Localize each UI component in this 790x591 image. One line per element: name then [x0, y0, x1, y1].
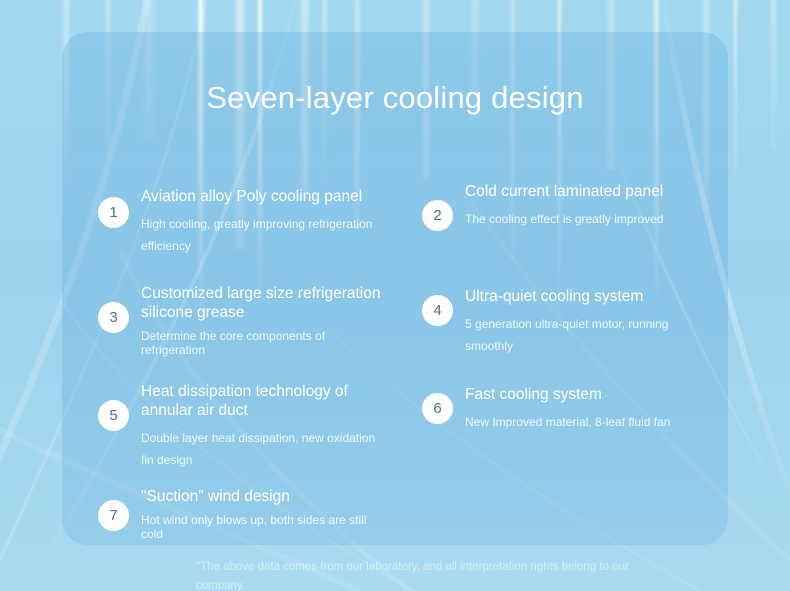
feature-description-3: Determine the core components of refrige…: [141, 329, 388, 357]
feature-description-7: Hot wind only blows up, both sides are s…: [141, 513, 388, 541]
feature-number-badge-1: 1: [98, 197, 129, 228]
feature-item-1: 1 Aviation alloy Poly cooling panel High…: [98, 187, 388, 257]
feature-number-badge-7: 7: [98, 500, 129, 531]
feature-item-6: 6 Fast cooling system New Improved mater…: [422, 385, 712, 433]
feature-title-2: Cold current laminated panel: [465, 182, 712, 201]
feature-description-5: Double layer heat dissipation, new oxida…: [141, 427, 388, 471]
feature-title-7: "Suction" wind design: [141, 487, 388, 506]
feature-title-5: Heat dissipation technology of annular a…: [141, 382, 388, 420]
promo-banner: Seven-layer cooling design 1 Aviation al…: [0, 0, 790, 591]
feature-panel: Seven-layer cooling design 1 Aviation al…: [62, 32, 728, 545]
feature-number-badge-4: 4: [422, 295, 453, 326]
disclaimer-footnote: "The above data comes from our laborator…: [196, 558, 666, 591]
feature-item-4: 4 Ultra-quiet cooling system 5 generatio…: [422, 287, 712, 357]
feature-title-3: Customized large size refrigeration sili…: [141, 284, 388, 322]
feature-item-7: 7 "Suction" wind design Hot wind only bl…: [98, 487, 388, 541]
feature-item-2: 2 Cold current laminated panel The cooli…: [422, 182, 712, 230]
feature-description-2: The cooling effect is greatly improved: [465, 208, 712, 230]
feature-description-4: 5 generation ultra-quiet motor, running …: [465, 313, 712, 357]
panel-title: Seven-layer cooling design: [62, 80, 728, 116]
feature-description-1: High cooling, greatly improving refriger…: [141, 213, 388, 257]
feature-item-5: 5 Heat dissipation technology of annular…: [98, 382, 388, 471]
feature-item-3: 3 Customized large size refrigeration si…: [98, 284, 388, 357]
feature-number-badge-6: 6: [422, 393, 453, 424]
feature-number-badge-5: 5: [98, 400, 129, 431]
feature-number-badge-3: 3: [98, 302, 129, 333]
feature-title-4: Ultra-quiet cooling system: [465, 287, 712, 306]
feature-number-badge-2: 2: [422, 200, 453, 231]
feature-title-6: Fast cooling system: [465, 385, 712, 404]
feature-title-1: Aviation alloy Poly cooling panel: [141, 187, 388, 206]
feature-description-6: New Improved material, 8-leaf fluid fan: [465, 411, 712, 433]
